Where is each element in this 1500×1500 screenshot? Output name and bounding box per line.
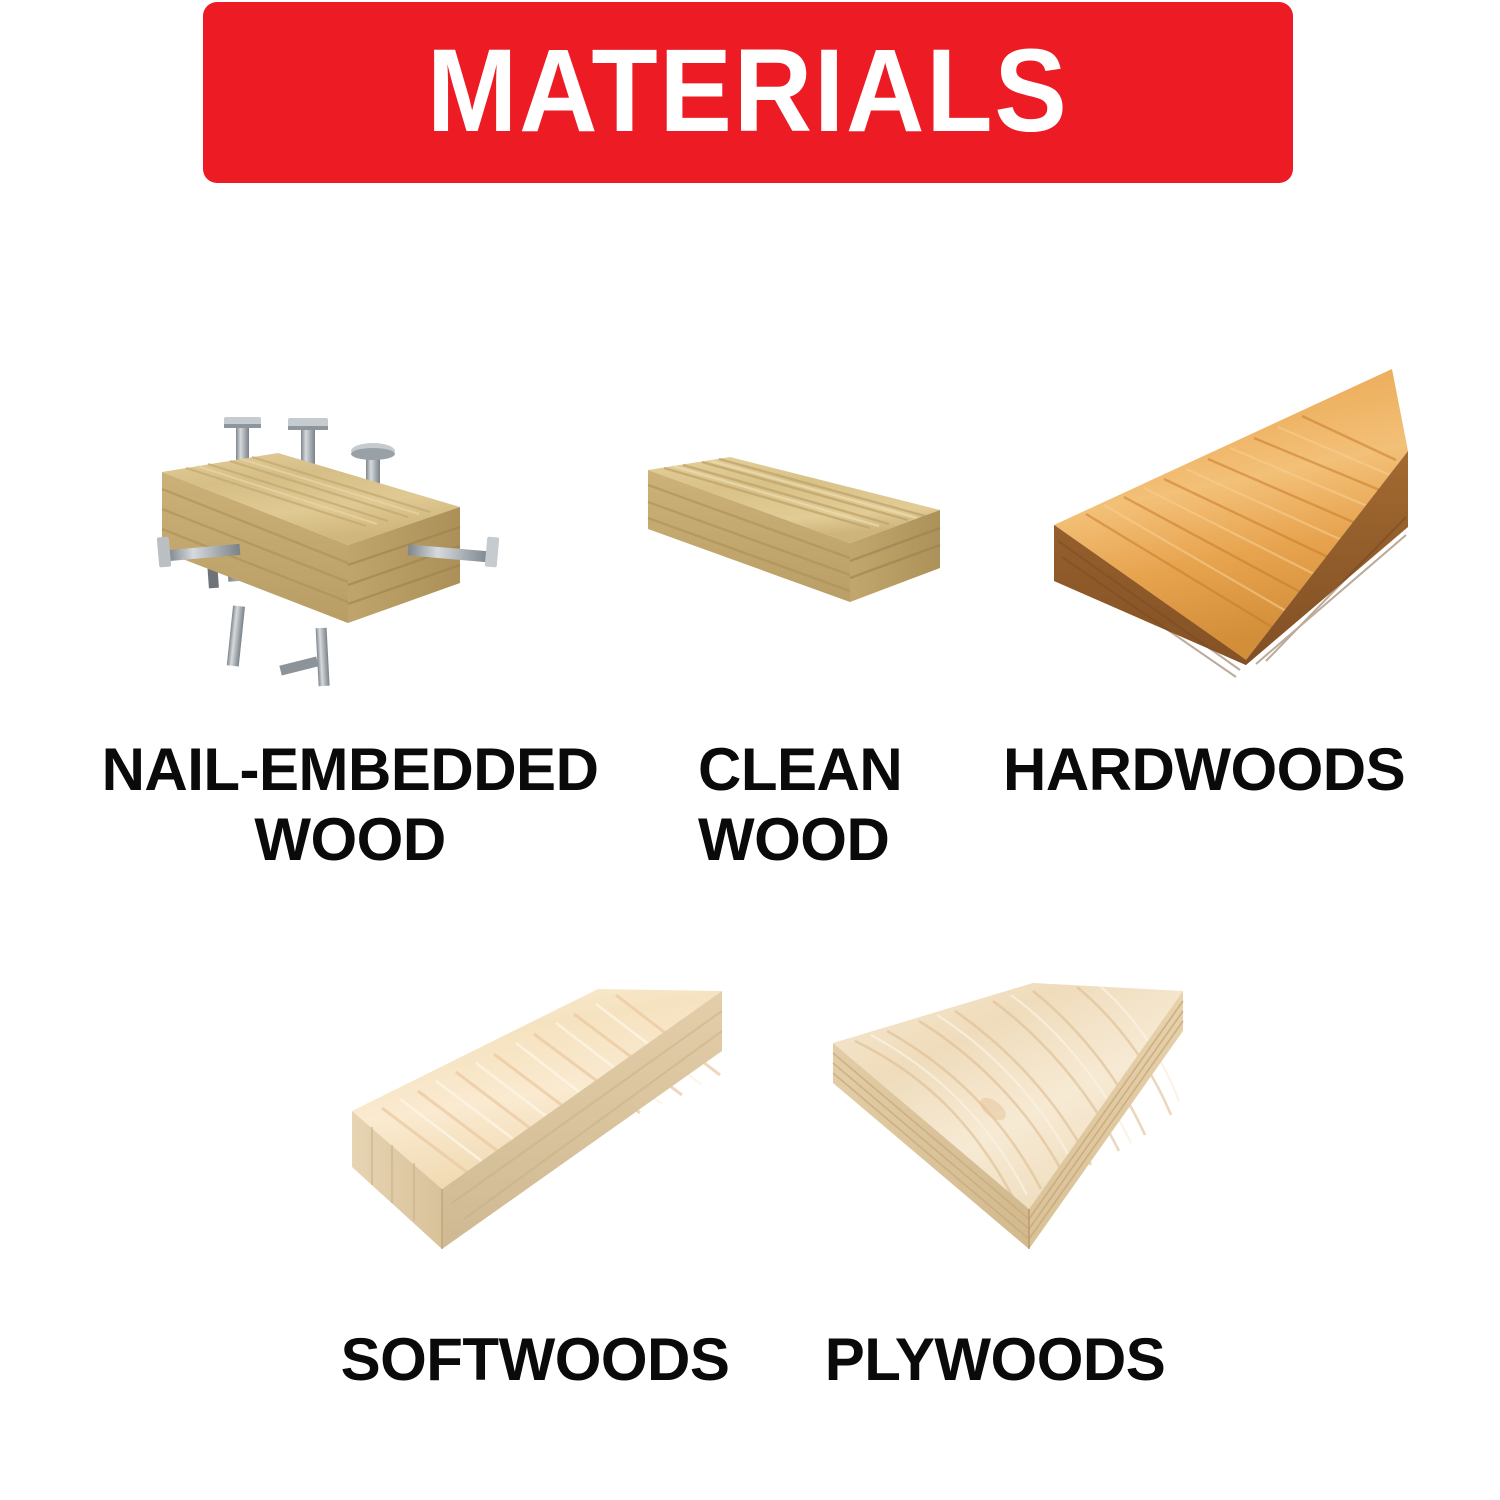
material-label-plywoods: PLYWOODS [800, 1325, 1190, 1395]
softwoods-icon [330, 965, 730, 1255]
hardwood-top-face [1054, 369, 1408, 660]
material-label-clean-wood: CLEAN WOOD [698, 735, 1028, 874]
materials-header-banner: MATERIALS [203, 2, 1293, 183]
material-label-nail-embedded-wood: NAIL-EMBEDDED WOOD [40, 735, 660, 874]
materials-infographic: MATERIALS [0, 0, 1500, 1500]
hardwoods-icon [1040, 365, 1410, 665]
material-label-hardwoods: HARDWOODS [1003, 735, 1473, 805]
page-title: MATERIALS [427, 32, 1069, 150]
clean-wood-icon [640, 430, 970, 610]
nail-embedded-wood-icon [150, 385, 530, 685]
material-label-softwoods: SOFTWOODS [300, 1325, 770, 1395]
plywoods-icon [815, 985, 1185, 1285]
